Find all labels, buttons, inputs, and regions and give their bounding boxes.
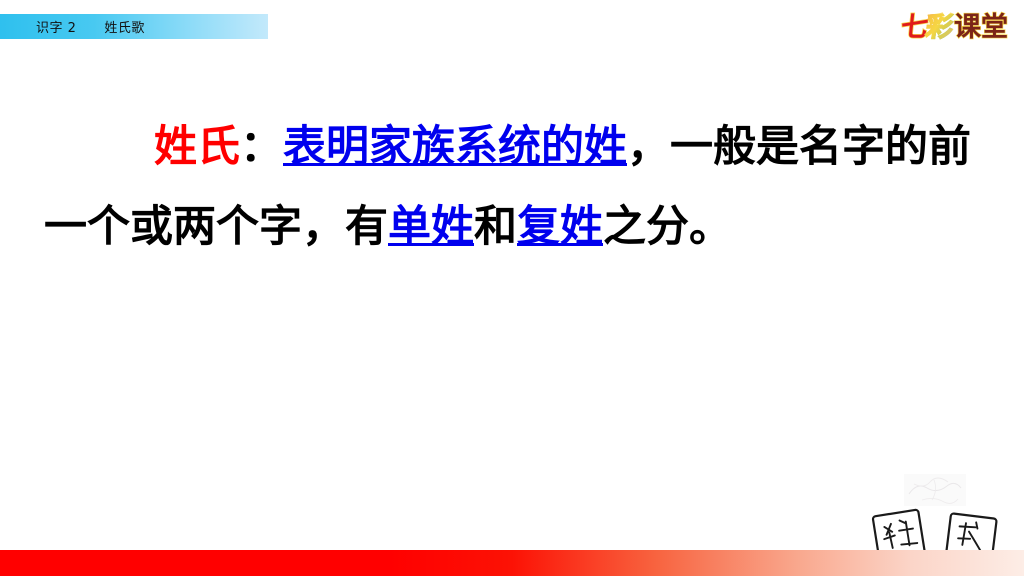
conjunction-he: 和 [474,202,517,252]
definition-phrase-underlined: 表明家族系统的姓 [283,122,627,172]
logo-char-ketang: 课堂 [954,14,1008,41]
highlight-fuxing: 复姓 [517,202,603,252]
term-xingshi: 姓氏 [154,122,240,172]
faint-sketch-patch [904,474,966,506]
footer-accent-bar [0,550,1024,576]
term-colon: ： [240,122,283,172]
comma-separator: ， [627,122,670,172]
highlight-danxing: 单姓 [388,202,474,252]
lesson-title-label: 姓氏歌 [104,17,145,36]
logo-char-cai: 彩 [924,14,955,41]
brand-logo: 七 彩 课堂 [901,14,1008,41]
definition-paragraph: 姓氏：表明家族系统的姓，一般是名字的前一个或两个字，有单姓和复姓之分。 [44,108,980,267]
lesson-header-bar: 识字 2 姓氏歌 [0,14,268,39]
lesson-number-label: 识字 2 [36,17,76,36]
definition-tail-text: 之分。 [603,202,732,252]
slide-canvas: 识字 2 姓氏歌 七 彩 课堂 姓氏：表明家族系统的姓，一般是名字的前一个或两个… [0,0,1024,576]
